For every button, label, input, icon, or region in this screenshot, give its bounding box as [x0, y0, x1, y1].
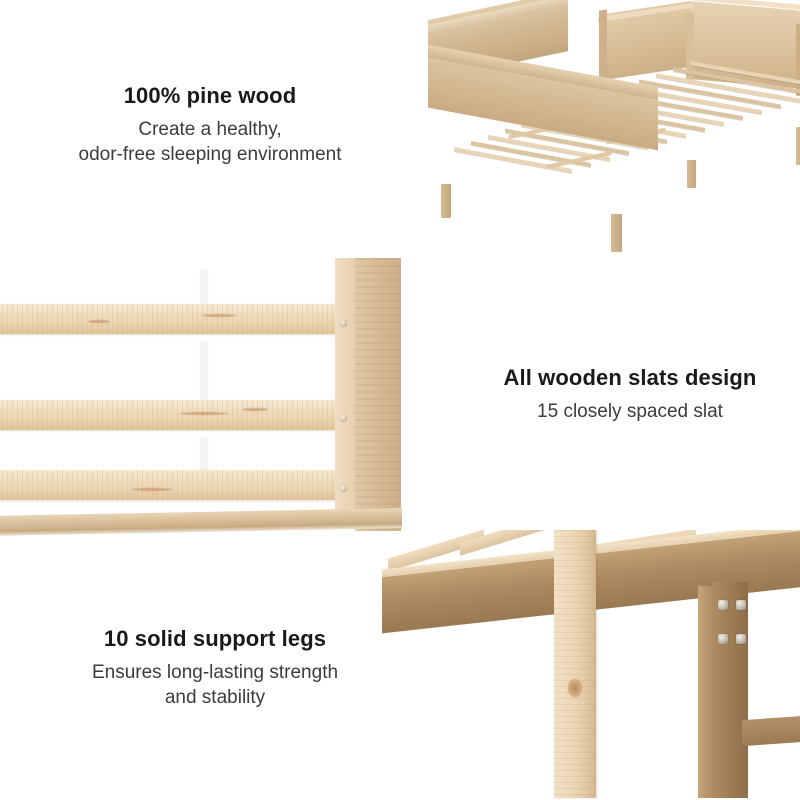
leg-bolt [736, 634, 746, 644]
pine-slat-top [0, 304, 344, 334]
feature-title-support-legs: 10 solid support legs [30, 625, 400, 653]
slat-screw [340, 320, 347, 327]
feature-subtitle-pine-wood: Create a healthy, odor-free sleeping env… [20, 117, 400, 168]
corner-support-leg [712, 582, 748, 798]
bed-frame-illustration [428, 2, 796, 260]
wood-knot [202, 314, 236, 317]
feature-subtitle-support-legs: Ensures long-lasting strength and stabil… [30, 660, 400, 711]
wood-knot [132, 488, 172, 491]
headboard-post-right [796, 24, 800, 97]
full-bed-frame-photo [428, 2, 796, 260]
feature-block-wooden-slats: All wooden slats design 15 closely space… [470, 364, 790, 424]
feature-block-pine-wood: 100% pine wood Create a healthy, odor-fr… [20, 82, 400, 168]
feature-subtitle-line: odor-free sleeping environment [20, 142, 400, 168]
slat-screw [340, 415, 347, 422]
support-leg-closeup-photo [382, 530, 800, 800]
bed-leg-front-right [611, 214, 622, 252]
bed-leg-front-left [441, 184, 451, 218]
pine-slat-middle [0, 400, 344, 430]
feature-subtitle-line: and stability [30, 685, 400, 711]
feature-subtitle-line: Ensures long-lasting strength [30, 660, 400, 686]
feature-subtitle-line: 15 closely spaced slat [470, 399, 790, 425]
bed-leg-middle [687, 160, 696, 188]
centre-support-leg [554, 530, 596, 798]
collage-canvas: 100% pine wood Create a healthy, odor-fr… [0, 0, 800, 800]
pine-slat-bottom [0, 470, 344, 500]
leg-bolt [718, 600, 728, 610]
wood-knot [88, 320, 110, 323]
feature-subtitle-line: Create a healthy, [20, 117, 400, 143]
bed-leg-back-right [796, 127, 800, 165]
slat-screw [340, 485, 347, 492]
leg-bolt [718, 634, 728, 644]
webbing-strap-middle [200, 342, 208, 404]
feature-subtitle-wooden-slats: 15 closely spaced slat [470, 399, 790, 425]
leg-bolt [736, 600, 746, 610]
leg-wood-knot [567, 678, 583, 698]
side-rail-outer-post [355, 258, 401, 531]
wood-knot [180, 412, 228, 415]
feature-title-wooden-slats: All wooden slats design [470, 364, 790, 392]
feature-block-support-legs: 10 solid support legs Ensures long-lasti… [30, 625, 400, 711]
wood-knot [242, 408, 268, 411]
cross-support-rail [742, 716, 800, 746]
feature-title-pine-wood: 100% pine wood [20, 82, 400, 110]
